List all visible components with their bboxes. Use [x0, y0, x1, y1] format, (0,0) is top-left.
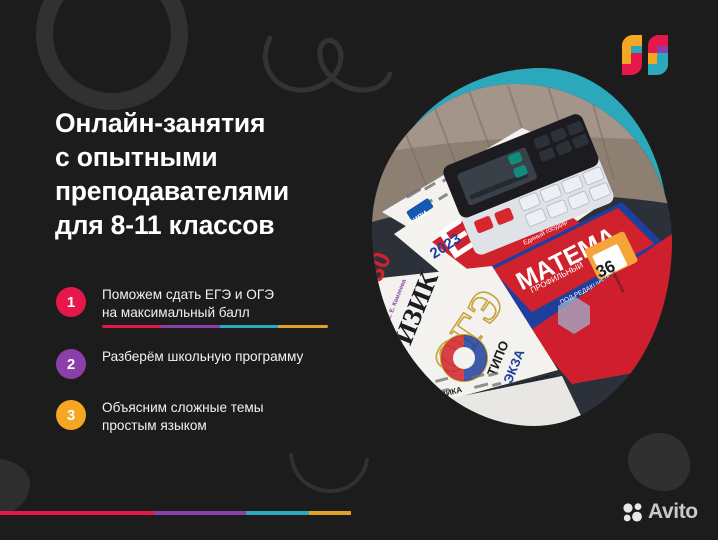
list-item: 1 Поможем сдать ЕГЭ и ОГЭ на максимальны… [56, 286, 376, 328]
page-title: Онлайн-занятия с опытными преподавателям… [55, 106, 355, 242]
avito-dots-icon [623, 502, 645, 522]
accent-underline [102, 325, 328, 328]
photo-frame: ЕГЭ 2023 ФИПИ [372, 84, 672, 426]
avito-watermark: Avito [623, 501, 698, 522]
accent-segment-3 [220, 325, 279, 328]
benefit-text: Разберём школьную программу [102, 348, 303, 366]
hero-photo: ЕГЭ 2023 ФИПИ [360, 60, 700, 460]
benefit-text: Поможем сдать ЕГЭ и ОГЭ на максимальный … [102, 286, 328, 322]
arc-decoration [288, 452, 370, 494]
benefit-text: Объясним сложные темы простым языком [102, 399, 264, 435]
list-item: 3 Объясним сложные темы простым языком [56, 399, 376, 435]
ring-decoration [36, 0, 188, 110]
accent-segment-4 [278, 325, 328, 328]
ad-creative: Онлайн-занятия с опытными преподавателям… [0, 0, 718, 540]
list-item: 2 Разберём школьную программу [56, 348, 376, 379]
photo-illustration: ЕГЭ 2023 ФИПИ [372, 84, 672, 426]
bottom-rule-segment-2 [154, 511, 245, 515]
bottom-rule-segment-4 [309, 511, 351, 515]
blob-decoration-bottom-left [0, 458, 30, 516]
benefit-number-badge: 2 [56, 349, 86, 379]
accent-segment-1 [102, 325, 161, 328]
bottom-rule-segment-1 [0, 511, 154, 515]
bottom-accent-rule [0, 511, 351, 515]
bottom-rule-segment-3 [246, 511, 309, 515]
benefit-list: 1 Поможем сдать ЕГЭ и ОГЭ на максимальны… [56, 286, 376, 435]
benefit-number-badge: 3 [56, 400, 86, 430]
accent-segment-2 [161, 325, 220, 328]
benefit-number-badge: 1 [56, 287, 86, 317]
avito-wordmark: Avito [648, 501, 698, 522]
